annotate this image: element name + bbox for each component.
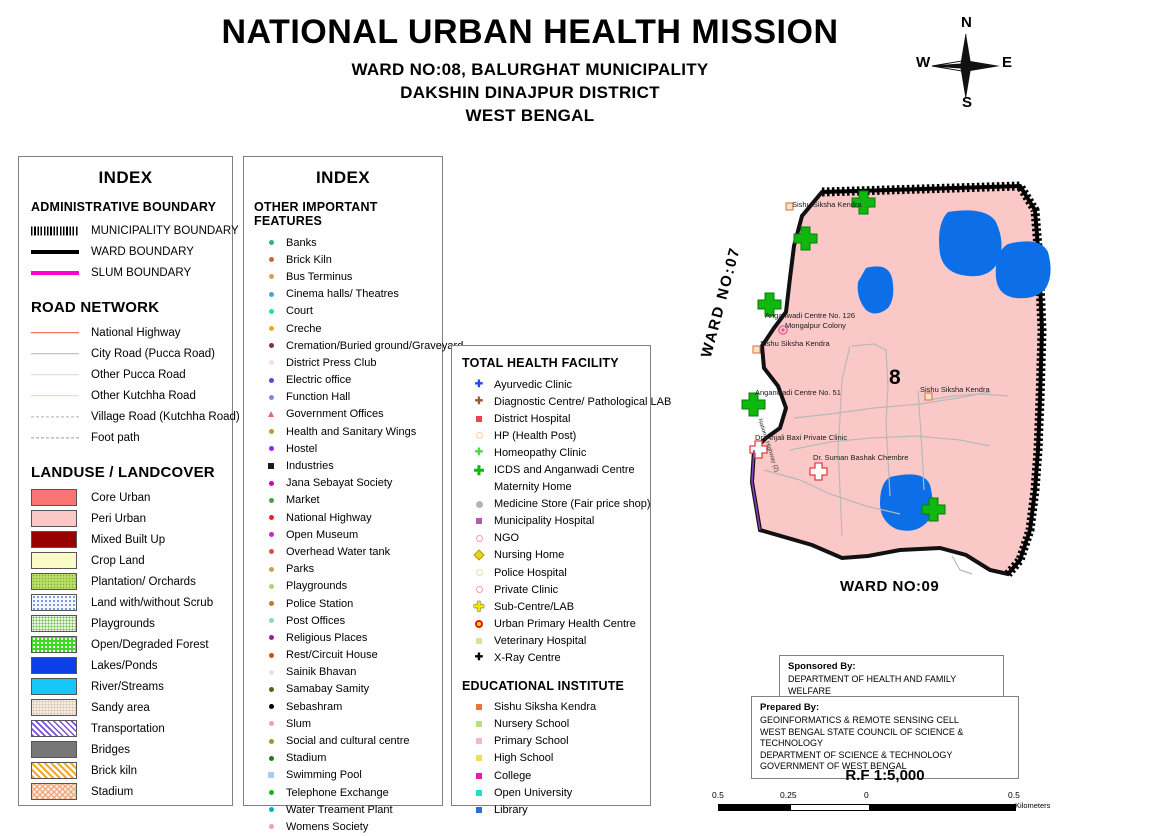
map-feature-label: Mongalpur Colony (785, 321, 846, 330)
legend-symbol: ✚ (464, 464, 494, 477)
legend-item-label: Parks (286, 563, 314, 575)
legend-item-label: Function Hall (286, 391, 350, 403)
legend-item-label: Diagnostic Centre/ Pathological LAB (494, 396, 671, 408)
legend-symbol (256, 292, 286, 297)
legend-item-label: Cinema halls/ Theatres (286, 288, 399, 300)
legend-item-landuse[interactable]: Bridges (19, 739, 232, 760)
legend-symbol: ✚ (464, 397, 494, 407)
legend-item-feature[interactable]: Court (244, 303, 442, 320)
legend-symbol-glyph (269, 567, 274, 572)
legend-item-feature[interactable]: Hostel (244, 440, 442, 457)
legend-symbol-glyph (269, 790, 274, 795)
legend-symbol-glyph (269, 429, 274, 434)
legend-symbol-glyph (269, 824, 274, 829)
legend-symbol-glyph (476, 569, 483, 576)
legend-item-label: Stadium (91, 786, 133, 798)
legend-item-feature[interactable]: Post Offices (244, 612, 442, 629)
compass-west-label: W (916, 54, 930, 71)
ward-map-svg[interactable] (690, 150, 1140, 620)
legend-item-label: Veterinary Hospital (494, 635, 586, 647)
legend-symbol-glyph: ✚ (475, 397, 483, 407)
legend-item-label: Transportation (91, 723, 165, 735)
legend-item-label: Telephone Exchange (286, 787, 389, 799)
scale-units-label: Kilometers (1015, 801, 1050, 810)
legend-panel-features: INDEX OTHER IMPORTANT FEATURES BanksBric… (243, 156, 443, 806)
legend-item-feature[interactable]: National Highway (244, 509, 442, 526)
legend-color-swatch (31, 657, 77, 674)
legend-item-label: Land with/without Scrub (91, 597, 213, 609)
legend-item-label: Plantation/ Orchards (91, 576, 196, 588)
legend-symbol-glyph (476, 416, 482, 422)
legend-item-label: Creche (286, 323, 321, 335)
legend-item-label: Stadium (286, 752, 326, 764)
legend-symbol-glyph (269, 515, 274, 520)
legend-symbol (464, 638, 494, 644)
legend-item-landuse[interactable]: Core Urban (19, 487, 232, 508)
legend-symbol (256, 257, 286, 262)
legend-color-swatch (31, 552, 77, 569)
legend-item-landuse[interactable]: Transportation (19, 718, 232, 739)
legend-item-label: River/Streams (91, 681, 164, 693)
legend-item-feature[interactable]: Function Hall (244, 389, 442, 406)
legend-symbol-glyph (269, 343, 274, 348)
map-feature-label: Anganwadi Centre No. 51 (755, 388, 841, 397)
representative-fraction: R.F 1:5,000 (751, 767, 1019, 784)
legend-item-label: Medicine Store (Fair price shop) (494, 498, 651, 510)
legend-symbol (256, 309, 286, 314)
legend-symbol-glyph (476, 721, 482, 727)
legend-symbol (464, 535, 494, 542)
legend-item-health[interactable]: ✚X-Ray Centre (452, 650, 650, 667)
legend-symbol-glyph (473, 550, 484, 561)
legend-item-health[interactable]: ✚Homeopathy Clinic (452, 444, 650, 461)
legend-symbol (464, 704, 494, 710)
legend-item-education[interactable]: Open University (452, 784, 650, 801)
pond-north-large (939, 210, 1002, 276)
legend-item-admin[interactable]: SLUM BOUNDARY (19, 262, 232, 283)
legend-item-feature[interactable]: Bus Terminus (244, 268, 442, 285)
legend-line-swatch (31, 267, 79, 279)
legend-item-label: Womens Society (286, 821, 368, 833)
legend-symbol-glyph (476, 484, 482, 490)
legend-item-education[interactable]: Nursery School (452, 716, 650, 733)
legend-item-feature[interactable]: Religious Places (244, 629, 442, 646)
legend-item-label: Sub-Centre/LAB (494, 601, 574, 613)
legend-symbol (256, 360, 286, 365)
legend-symbol (464, 518, 494, 524)
legend-item-label: Government Offices (286, 408, 384, 420)
legend-item-health[interactable]: ✚ICDS and Anganwadi Centre (452, 461, 650, 478)
legend-item-feature[interactable]: Playgrounds (244, 578, 442, 595)
legend-item-road[interactable]: Village Road (Kutchha Road) (19, 406, 232, 427)
legend-item-health[interactable]: ✚Ayurvedic Clinic (452, 376, 650, 393)
legend-item-road[interactable]: City Road (Pucca Road) (19, 343, 232, 364)
pond-south (880, 474, 933, 530)
legend-color-swatch (31, 783, 77, 800)
legend-item-label: Library (494, 804, 528, 816)
legend-symbol (464, 586, 494, 593)
credit-line: GEOINFORMATICS & REMOTE SENSING CELL (760, 715, 1010, 727)
legend-symbol (256, 463, 286, 469)
educational-institute-list: Sishu Siksha KendraNursery SchoolPrimary… (452, 699, 650, 819)
legend-item-feature[interactable]: Creche (244, 320, 442, 337)
legend-symbol-glyph: ✚ (475, 448, 483, 458)
legend-symbol-glyph (269, 549, 274, 554)
legend-item-label: Religious Places (286, 632, 367, 644)
legend-line-swatch (31, 327, 79, 339)
legend-item-health[interactable]: Maternity Home (452, 479, 650, 496)
legend-item-feature[interactable]: Banks (244, 234, 442, 251)
legend-item-feature[interactable]: Open Museum (244, 526, 442, 543)
legend-item-label: Electric office (286, 374, 351, 386)
compass-east-label: E (1002, 54, 1012, 71)
legend-item-feature[interactable]: Telephone Exchange (244, 784, 442, 801)
legend-symbol-glyph (269, 687, 274, 692)
legend-item-landuse[interactable]: Plantation/ Orchards (19, 571, 232, 592)
legend-item-label: Open University (494, 787, 572, 799)
legend-symbol (464, 773, 494, 779)
legend-symbol (464, 620, 494, 628)
legend-item-feature[interactable]: Cinema halls/ Theatres (244, 286, 442, 303)
legend-item-landuse[interactable]: Crop Land (19, 550, 232, 571)
legend-item-health[interactable]: Medicine Store (Fair price shop) (452, 496, 650, 513)
legend-symbol-glyph (268, 411, 274, 417)
legend-item-feature[interactable]: Social and cultural centre (244, 732, 442, 749)
legend-item-feature[interactable]: Brick Kiln (244, 251, 442, 268)
legend-item-label: Primary School (494, 735, 569, 747)
legend-item-label: Homeopathy Clinic (494, 447, 586, 459)
page-title: NATIONAL URBAN HEALTH MISSION (0, 14, 1060, 51)
legend-item-landuse[interactable]: Playgrounds (19, 613, 232, 634)
legend-item-feature[interactable]: Water Treament Plant (244, 801, 442, 818)
legend-symbol (464, 416, 494, 422)
legend-item-label: Industries (286, 460, 334, 472)
legend-item-feature[interactable]: Parks (244, 561, 442, 578)
legend-item-label: Playgrounds (286, 580, 347, 592)
credit-line: DEPARTMENT OF SCIENCE & TECHNOLOGY (760, 750, 1010, 762)
legend-symbol-glyph (269, 292, 274, 297)
compass-rose: N S W E (918, 16, 1014, 116)
compass-south-label: S (962, 94, 972, 111)
legend-panel-administrative: INDEX ADMINISTRATIVE BOUNDARY MUNICIPALI… (18, 156, 233, 806)
legend-color-swatch (31, 615, 77, 632)
legend-item-label: Open/Degraded Forest (91, 639, 209, 651)
health-facility-list: ✚Ayurvedic Clinic✚Diagnostic Centre/ Pat… (452, 376, 650, 667)
legend-item-label: Foot path (91, 432, 140, 444)
legend-item-landuse[interactable]: Mixed Built Up (19, 529, 232, 550)
legend-symbol-glyph (269, 618, 274, 623)
legend-color-swatch (31, 573, 77, 590)
legend-item-label: Private Clinic (494, 584, 558, 596)
legend-item-health[interactable]: Private Clinic (452, 581, 650, 598)
ward-number-label: 8 (889, 366, 901, 390)
legend-item-feature[interactable]: Market (244, 492, 442, 509)
legend-item-education[interactable]: Sishu Siksha Kendra (452, 699, 650, 716)
legend-symbol-glyph (476, 773, 482, 779)
legend-item-label: Lakes/Ponds (91, 660, 158, 672)
legend-symbol (464, 551, 494, 559)
legend-item-label: X-Ray Centre (494, 652, 561, 664)
legend-symbol-glyph (476, 790, 482, 796)
legend-item-feature[interactable]: Slum (244, 715, 442, 732)
legend-symbol: ✚ (464, 600, 494, 613)
legend-symbol (464, 501, 494, 508)
legend-item-label: Nursing Home (494, 549, 564, 561)
legend-item-landuse[interactable]: Open/Degraded Forest (19, 634, 232, 655)
compass-north-label: N (961, 14, 972, 31)
legend-item-label: Social and cultural centre (286, 735, 410, 747)
legend-item-label: Police Hospital (494, 567, 567, 579)
legend-symbol-glyph (268, 772, 274, 778)
legend-item-landuse[interactable]: River/Streams (19, 676, 232, 697)
legend-symbol-glyph (476, 807, 482, 813)
legend-item-health[interactable]: NGO (452, 530, 650, 547)
legend-symbol (256, 584, 286, 589)
legend-item-feature[interactable]: Stadium (244, 750, 442, 767)
legend-symbol-glyph (476, 501, 483, 508)
subtitle-ward: WARD NO:08, BALURGHAT MUNICIPALITY (0, 60, 1060, 80)
legend-symbol-glyph (269, 446, 274, 451)
legend-symbol (256, 411, 286, 417)
legend-item-feature[interactable]: Samabay Samity (244, 681, 442, 698)
legend-symbol (256, 326, 286, 331)
legend-item-admin[interactable]: MUNICIPALITY BOUNDARY (19, 220, 232, 241)
scale-bar: 0.5 0.25 0 0.5 (712, 790, 1112, 820)
legend-symbol-glyph (476, 638, 482, 644)
legend-item-feature[interactable]: Jana Sebayat Society (244, 475, 442, 492)
legend-symbol-glyph: ✚ (475, 653, 483, 663)
legend-item-feature[interactable]: Womens Society (244, 818, 442, 835)
legend-item-label: Brick Kiln (286, 254, 332, 266)
legend-symbol-glyph (476, 518, 482, 524)
legend-item-label: National Highway (91, 327, 181, 339)
legend-symbol (256, 618, 286, 623)
legend-item-admin[interactable]: WARD BOUNDARY (19, 241, 232, 262)
legend-item-health[interactable]: ✚Sub-Centre/LAB (452, 598, 650, 615)
legend-symbol-glyph (269, 756, 274, 761)
legend-item-health[interactable]: Police Hospital (452, 564, 650, 581)
legend-color-swatch (31, 741, 77, 758)
legend-symbol (256, 532, 286, 537)
legend-symbol (256, 756, 286, 761)
legend-item-feature[interactable]: Sainik Bhavan (244, 664, 442, 681)
legend-line-swatch (31, 369, 79, 381)
legend-item-health[interactable]: District Hospital (452, 410, 650, 427)
legend-symbol (256, 790, 286, 795)
legend-symbol (256, 704, 286, 709)
legend-item-label: Slum (286, 718, 311, 730)
legend-item-landuse[interactable]: Lakes/Ponds (19, 655, 232, 676)
legend-item-label: National Highway (286, 512, 372, 524)
legend-symbol (464, 569, 494, 576)
legend-symbol-glyph (269, 326, 274, 331)
scale-tick-1: 0.25 (780, 790, 797, 800)
map-feature-label: Sishu Siksha Kendra (792, 200, 862, 209)
legend-item-feature[interactable]: Police Station (244, 595, 442, 612)
legend-symbol (256, 498, 286, 503)
legend-item-label: Water Treament Plant (286, 804, 393, 816)
credit-line: DEPARTMENT OF HEALTH AND FAMILY WELFARE (788, 674, 995, 697)
legend-item-feature[interactable]: Swimming Pool (244, 767, 442, 784)
legend-item-education[interactable]: High School (452, 750, 650, 767)
legend-symbol-glyph (269, 584, 274, 589)
section-other-features: OTHER IMPORTANT FEATURES (254, 200, 442, 228)
legend-item-landuse[interactable]: Stadium (19, 781, 232, 802)
legend-item-road[interactable]: Foot path (19, 427, 232, 448)
legend-color-swatch (31, 636, 77, 653)
title-block: NATIONAL URBAN HEALTH MISSION WARD NO:08… (0, 14, 1060, 126)
legend-item-feature[interactable]: Health and Sanitary Wings (244, 423, 442, 440)
legend-item-label: Samabay Samity (286, 683, 369, 695)
legend-symbol (256, 721, 286, 726)
legend-item-health[interactable]: HP (Health Post) (452, 427, 650, 444)
pond-north-east (996, 241, 1051, 298)
legend-item-label: Open Museum (286, 529, 358, 541)
legend-symbol-glyph (475, 620, 483, 628)
scale-tick-2: 0 (864, 790, 869, 800)
legend-item-feature[interactable]: Cremation/Buried ground/Graveyard (244, 337, 442, 354)
legend-symbol (256, 343, 286, 348)
legend-item-label: Sebashram (286, 701, 342, 713)
legend-item-label: District Hospital (494, 413, 570, 425)
legend-title-2: INDEX (244, 157, 442, 188)
legend-symbol-glyph (268, 463, 274, 469)
legend-item-label: Peri Urban (91, 513, 146, 525)
legend-item-label: Rest/Circuit House (286, 649, 378, 661)
legend-item-education[interactable]: Library (452, 801, 650, 818)
legend-symbol-glyph (476, 586, 483, 593)
legend-symbol (256, 567, 286, 572)
map-feature-label: Dr. Suman Bashak Chembre (813, 453, 908, 462)
legend-item-label: Cremation/Buried ground/Graveyard (286, 340, 463, 352)
ward-09-label: WARD NO:09 (840, 578, 939, 595)
scale-seg-3 (870, 804, 1016, 811)
legend-symbol-glyph (269, 532, 274, 537)
legend-item-road[interactable]: Other Kutchha Road (19, 385, 232, 406)
credit-line: WEST BENGAL STATE COUNCIL OF SCIENCE & T… (760, 727, 1010, 750)
legend-item-landuse[interactable]: Land with/without Scrub (19, 592, 232, 613)
legend-item-label: Police Station (286, 598, 353, 610)
legend-symbol-glyph (269, 670, 274, 675)
section-admin-boundary: ADMINISTRATIVE BOUNDARY (31, 200, 232, 214)
legend-line-swatch (31, 348, 79, 360)
legend-item-feature[interactable]: Overhead Water tank (244, 543, 442, 560)
legend-item-feature[interactable]: District Press Club (244, 354, 442, 371)
legend-item-label: Municipality Hospital (494, 515, 594, 527)
legend-symbol (256, 635, 286, 640)
prepared-by-heading: Prepared By: (760, 702, 1010, 713)
legend-item-health[interactable]: ✚Diagnostic Centre/ Pathological LAB (452, 393, 650, 410)
legend-item-feature[interactable]: Industries (244, 457, 442, 474)
legend-item-label: Urban Primary Health Centre (494, 618, 636, 630)
legend-symbol-glyph (269, 309, 274, 314)
legend-symbol: ✚ (464, 653, 494, 663)
legend-symbol-glyph (269, 601, 274, 606)
legend-item-education[interactable]: College (452, 767, 650, 784)
legend-item-education[interactable]: Primary School (452, 733, 650, 750)
legend-symbol-glyph (269, 274, 274, 279)
legend-symbol-glyph: ✚ (475, 380, 483, 390)
legend-item-road[interactable]: National Highway (19, 322, 232, 343)
legend-symbol-glyph (476, 738, 482, 744)
legend-item-landuse[interactable]: Peri Urban (19, 508, 232, 529)
legend-item-label: Post Offices (286, 615, 345, 627)
legend-item-landuse[interactable]: Brick kiln (19, 760, 232, 781)
legend-item-health[interactable]: Nursing Home (452, 547, 650, 564)
legend-item-road[interactable]: Other Pucca Road (19, 364, 232, 385)
legend-symbol (464, 484, 494, 490)
legend-item-landuse[interactable]: Sandy area (19, 697, 232, 718)
legend-item-label: Overhead Water tank (286, 546, 390, 558)
legend-item-label: District Press Club (286, 357, 376, 369)
legend-symbol-glyph: ✚ (474, 464, 485, 477)
legend-item-health[interactable]: Municipality Hospital (452, 513, 650, 530)
section-landuse: LANDUSE / LANDCOVER (31, 464, 232, 481)
legend-color-swatch (31, 720, 77, 737)
legend-color-swatch (31, 594, 77, 611)
legend-symbol-glyph (269, 395, 274, 400)
legend-symbol (256, 824, 286, 829)
scale-tick-3: 0.5 (1008, 790, 1020, 800)
legend-item-label: Jana Sebayat Society (286, 477, 392, 489)
admin-boundary-list: MUNICIPALITY BOUNDARYWARD BOUNDARYSLUM B… (19, 220, 232, 283)
map-canvas[interactable]: 8 WARD NO:07 WARD NO:09 National Highway… (690, 150, 1140, 620)
legend-line-swatch (31, 411, 79, 423)
legend-item-label: High School (494, 752, 553, 764)
scale-seg-1 (718, 804, 790, 811)
legend-item-label: Bus Terminus (286, 271, 352, 283)
prepared-by-lines: GEOINFORMATICS & REMOTE SENSING CELLWEST… (760, 715, 1010, 773)
legend-symbol-glyph (269, 704, 274, 709)
legend-symbol-glyph (269, 653, 274, 658)
legend-item-label: Health and Sanitary Wings (286, 426, 416, 438)
legend-item-label: Hostel (286, 443, 317, 455)
legend-symbol (256, 772, 286, 778)
legend-symbol-glyph (269, 240, 274, 245)
legend-symbol-glyph (476, 432, 483, 439)
legend-color-swatch (31, 762, 77, 779)
legend-symbol-glyph (476, 704, 482, 710)
legend-line-swatch (31, 432, 79, 444)
landuse-list: Core UrbanPeri UrbanMixed Built UpCrop L… (19, 487, 232, 802)
legend-item-feature[interactable]: Electric office (244, 372, 442, 389)
legend-item-feature[interactable]: Government Offices (244, 406, 442, 423)
legend-symbol (256, 807, 286, 812)
legend-item-health[interactable]: Veterinary Hospital (452, 632, 650, 649)
section-educational-institute: EDUCATIONAL INSTITUTE (462, 679, 650, 693)
legend-item-health[interactable]: Urban Primary Health Centre (452, 615, 650, 632)
legend-item-feature[interactable]: Sebashram (244, 698, 442, 715)
map-feature-label: Anganwadi Centre No. 126 (765, 311, 855, 320)
legend-item-label: ICDS and Anganwadi Centre (494, 464, 635, 476)
scale-tick-0: 0.5 (712, 790, 724, 800)
legend-symbol: ✚ (464, 448, 494, 458)
subtitle-state: WEST BENGAL (0, 106, 1060, 126)
legend-item-label: City Road (Pucca Road) (91, 348, 215, 360)
legend-line-swatch (31, 246, 79, 258)
legend-item-label: Crop Land (91, 555, 145, 567)
legend-symbol (464, 738, 494, 744)
legend-symbol-glyph (476, 755, 482, 761)
legend-symbol (256, 378, 286, 383)
legend-symbol (256, 739, 286, 744)
legend-item-label: Swimming Pool (286, 769, 362, 781)
legend-title-1: INDEX (19, 157, 232, 188)
legend-item-feature[interactable]: Rest/Circuit House (244, 647, 442, 664)
legend-item-label: NGO (494, 532, 519, 544)
legend-symbol (464, 807, 494, 813)
legend-symbol-glyph (269, 257, 274, 262)
